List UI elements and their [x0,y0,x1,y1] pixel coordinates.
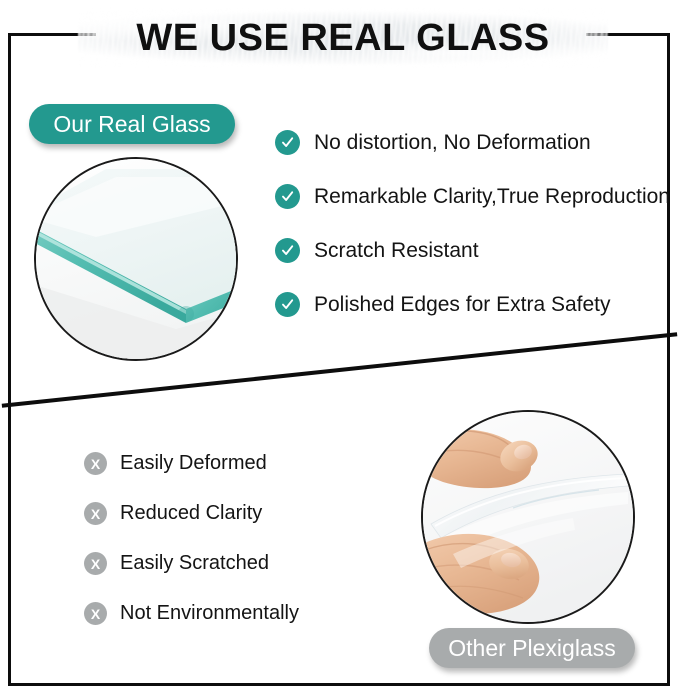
list-item-label: Reduced Clarity [120,502,262,525]
cross-icon-glyph: X [91,507,100,521]
badge-other-plexiglass: Other Plexiglass [429,628,635,668]
page-title-band: WE USE REAL GLASS [78,8,608,68]
list-item: X Reduced Clarity [84,502,414,525]
list-item: X Not Environmentally [84,602,414,625]
cons-list: X Easily Deformed X Reduced Clarity X Ea… [84,452,414,652]
cross-icon: X [84,602,107,625]
list-item-label: Remarkable Clarity,True Reproduction [314,185,670,209]
frame-border-bottom [8,683,670,686]
list-item: Remarkable Clarity,True Reproduction [275,184,675,209]
list-item: No distortion, No Deformation [275,130,675,155]
badge-our-real-glass: Our Real Glass [29,104,235,144]
cross-icon: X [84,452,107,475]
list-item: Scratch Resistant [275,238,675,263]
list-item: X Easily Scratched [84,552,414,575]
list-item-label: No distortion, No Deformation [314,131,591,155]
list-item-label: Easily Scratched [120,552,269,575]
cross-icon-glyph: X [91,457,100,471]
real-glass-illustration [36,159,236,359]
frame-border-left [8,33,11,686]
plexiglass-photo [421,410,635,624]
check-icon [275,238,300,263]
list-item-label: Scratch Resistant [314,239,479,263]
product-comparison-infographic: WE USE REAL GLASS Our Real Glass [0,0,679,691]
real-glass-photo [34,157,238,361]
check-icon [275,184,300,209]
cross-icon: X [84,502,107,525]
check-icon [275,130,300,155]
list-item-label: Polished Edges for Extra Safety [314,293,611,317]
page-title: WE USE REAL GLASS [78,8,608,68]
cross-icon-glyph: X [91,557,100,571]
list-item-label: Not Environmentally [120,602,299,625]
list-item: Polished Edges for Extra Safety [275,292,675,317]
list-item: X Easily Deformed [84,452,414,475]
plexiglass-illustration [423,412,633,622]
check-icon [275,292,300,317]
pros-list: No distortion, No Deformation Remarkable… [275,130,675,346]
cross-icon: X [84,552,107,575]
cross-icon-glyph: X [91,607,100,621]
list-item-label: Easily Deformed [120,452,267,475]
